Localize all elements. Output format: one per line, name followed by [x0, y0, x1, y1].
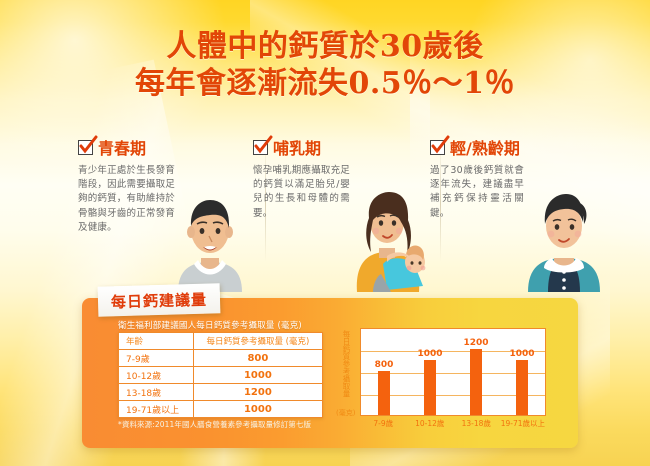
chart-bar-value: 1000 — [417, 349, 442, 359]
column-title: 哺乳期 — [273, 135, 321, 159]
column-heading-row: 輕/熟齡期 — [430, 136, 610, 158]
headline-line-2: 每年會逐漸流失0.5％～1％ — [0, 65, 650, 102]
chart-x-label: 7-9歲 — [361, 418, 405, 429]
checkbox-checked-icon — [430, 140, 445, 155]
chart-bar-value: 1200 — [463, 338, 488, 348]
table-header-intake: 每日鈣質參考攝取量 (毫克) — [193, 333, 322, 350]
chart-bar-value: 800 — [375, 360, 394, 370]
table-cell-age: 7-9歲 — [119, 350, 194, 367]
table-cell-intake: 1000 — [193, 367, 322, 384]
chart-bar — [516, 360, 528, 415]
column-body-text: 懷孕哺乳期應攝取充足的鈣質以滿足胎兒/嬰兒的生長和母體的需要。 — [253, 164, 350, 221]
table-cell-age: 19-71歲以上 — [119, 401, 194, 418]
chart-bar — [378, 371, 390, 415]
table-cell-intake: 1200 — [193, 384, 322, 401]
table-header-age: 年齡 — [119, 333, 194, 350]
calcium-bar-chart: 每日鈣質參考攝取量 (毫克) 800 1000 1200 — [340, 328, 565, 432]
column-title: 輕/熟齡期 — [450, 135, 520, 159]
life-stage-column-teen: 青春期 青少年正處於生長發育階段，因此需要攝取足夠的鈣質，有助維持於骨骼與牙齒的… — [78, 136, 258, 286]
headline-line-1: 人體中的鈣質於30歲後 — [0, 28, 650, 65]
table-header-row: 年齡 每日鈣質參考攝取量 (毫克) — [119, 333, 323, 350]
table-row: 13-18歲 1200 — [119, 384, 323, 401]
chart-x-axis: 7-9歲 10-12歲 13-18歲 19-71歲以上 — [360, 418, 546, 429]
column-title: 青春期 — [98, 135, 146, 159]
checkbox-checked-icon — [78, 140, 93, 155]
chart-bar — [470, 349, 482, 415]
column-body-text: 過了30歲後鈣質就會逐年流失，建議盡早補充鈣保持靈活關鍵。 — [430, 164, 524, 221]
chart-bar-cell: 800 — [364, 329, 404, 415]
table-row: 7-9歲 800 — [119, 350, 323, 367]
chart-y-axis-label: 每日鈣質參考攝取量 — [340, 330, 351, 408]
column-heading-row: 哺乳期 — [253, 136, 433, 158]
panel-tab-label: 每日鈣建議量 — [98, 283, 221, 316]
chart-plot-area: 800 1000 1200 1000 — [360, 328, 546, 416]
infographic-canvas: 人體中的鈣質於30歲後 每年會逐漸流失0.5％～1％ 青春期 青少年正處於生長發… — [0, 0, 650, 466]
source-note: *資料來源:2011年國人膳食營養素參考攝取量修訂第七版 — [118, 419, 311, 430]
chart-x-label: 13-18歲 — [454, 418, 498, 429]
chart-bar — [424, 360, 436, 415]
table-row: 10-12歲 1000 — [119, 367, 323, 384]
table-cell-age: 13-18歲 — [119, 384, 194, 401]
chart-bar-cell: 1200 — [456, 329, 496, 415]
chart-bar-cell: 1000 — [502, 329, 542, 415]
checkbox-checked-icon — [253, 140, 268, 155]
chart-bars: 800 1000 1200 1000 — [361, 329, 545, 415]
table-row: 19-71歲以上 1000 — [119, 401, 323, 418]
table-cell-age: 10-12歲 — [119, 367, 194, 384]
calcium-intake-table: 年齡 每日鈣質參考攝取量 (毫克) 7-9歲 800 10-12歲 1000 1… — [118, 332, 323, 418]
mature-woman-illustration — [520, 188, 608, 292]
life-stage-column-mature: 輕/熟齡期 過了30歲後鈣質就會逐年流失，建議盡早補充鈣保持靈活關鍵。 — [430, 136, 610, 286]
table-cell-intake: 800 — [193, 350, 322, 367]
teen-boy-illustration — [168, 188, 252, 292]
mother-with-baby-illustration — [343, 188, 433, 292]
chart-bar-cell: 1000 — [410, 329, 450, 415]
column-body-text: 青少年正處於生長發育階段，因此需要攝取足夠的鈣質，有助維持於骨骼與牙齒的正常發育… — [78, 164, 175, 235]
table-caption: 衛生福利部建議國人每日鈣質參考攝取量 (毫克) — [118, 319, 302, 331]
panel-tab-text: 每日鈣建議量 — [111, 288, 208, 312]
table-cell-intake: 1000 — [193, 401, 322, 418]
chart-x-label: 10-12歲 — [408, 418, 452, 429]
chart-x-label: 19-71歲以上 — [501, 418, 545, 429]
life-stage-columns: 青春期 青少年正處於生長發育階段，因此需要攝取足夠的鈣質，有助維持於骨骼與牙齒的… — [0, 136, 650, 288]
chart-y-axis-unit: (毫克) — [336, 408, 355, 418]
life-stage-column-nursing: 哺乳期 懷孕哺乳期應攝取充足的鈣質以滿足胎兒/嬰兒的生長和母體的需要。 — [253, 136, 433, 286]
chart-bar-value: 1000 — [509, 349, 534, 359]
headline: 人體中的鈣質於30歲後 每年會逐漸流失0.5％～1％ — [0, 28, 650, 102]
column-heading-row: 青春期 — [78, 136, 258, 158]
